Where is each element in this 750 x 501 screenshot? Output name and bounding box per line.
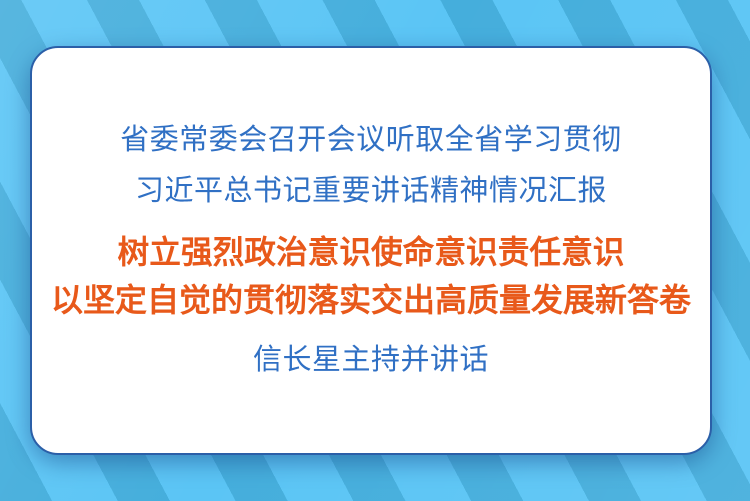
subheading-line-1: 省委常委会召开会议听取全省学习贯彻 (120, 126, 622, 155)
news-poster: 省委常委会召开会议听取全省学习贯彻 习近平总书记重要讲话精神情况汇报 树立强烈政… (0, 0, 750, 501)
byline-text: 信长星主持并讲话 (253, 346, 489, 375)
headline-card: 省委常委会召开会议听取全省学习贯彻 习近平总书记重要讲话精神情况汇报 树立强烈政… (30, 46, 712, 455)
headline-line-2: 以坚定自觉的贯彻落实交出高质量发展新答卷 (51, 284, 691, 316)
subheading-line-2: 习近平总书记重要讲话精神情况汇报 (135, 177, 607, 206)
headline-card-content: 省委常委会召开会议听取全省学习贯彻 习近平总书记重要讲话精神情况汇报 树立强烈政… (32, 126, 710, 375)
headline-line-1: 树立强烈政治意识使命意识责任意识 (118, 236, 625, 268)
